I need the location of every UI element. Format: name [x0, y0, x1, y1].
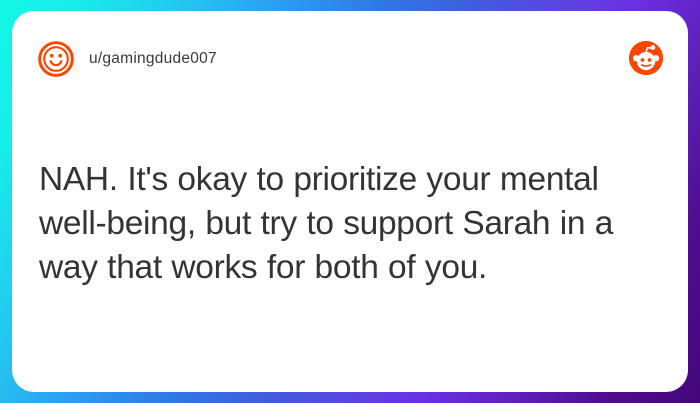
- post-body-text: NAH. It's okay to prioritize your mental…: [39, 158, 662, 290]
- author-username: u/gamingdude007: [89, 50, 217, 68]
- smiley-face-icon: [37, 40, 75, 78]
- post-author[interactable]: u/gamingdude007: [37, 40, 217, 78]
- reddit-snoo-icon[interactable]: [628, 40, 664, 76]
- post-header: u/gamingdude007: [12, 11, 688, 107]
- reddit-post-card: u/gamingdude007 NAH. It's okay to priori…: [12, 11, 688, 392]
- screen-root: u/gamingdude007 NAH. It's okay to priori…: [0, 0, 700, 403]
